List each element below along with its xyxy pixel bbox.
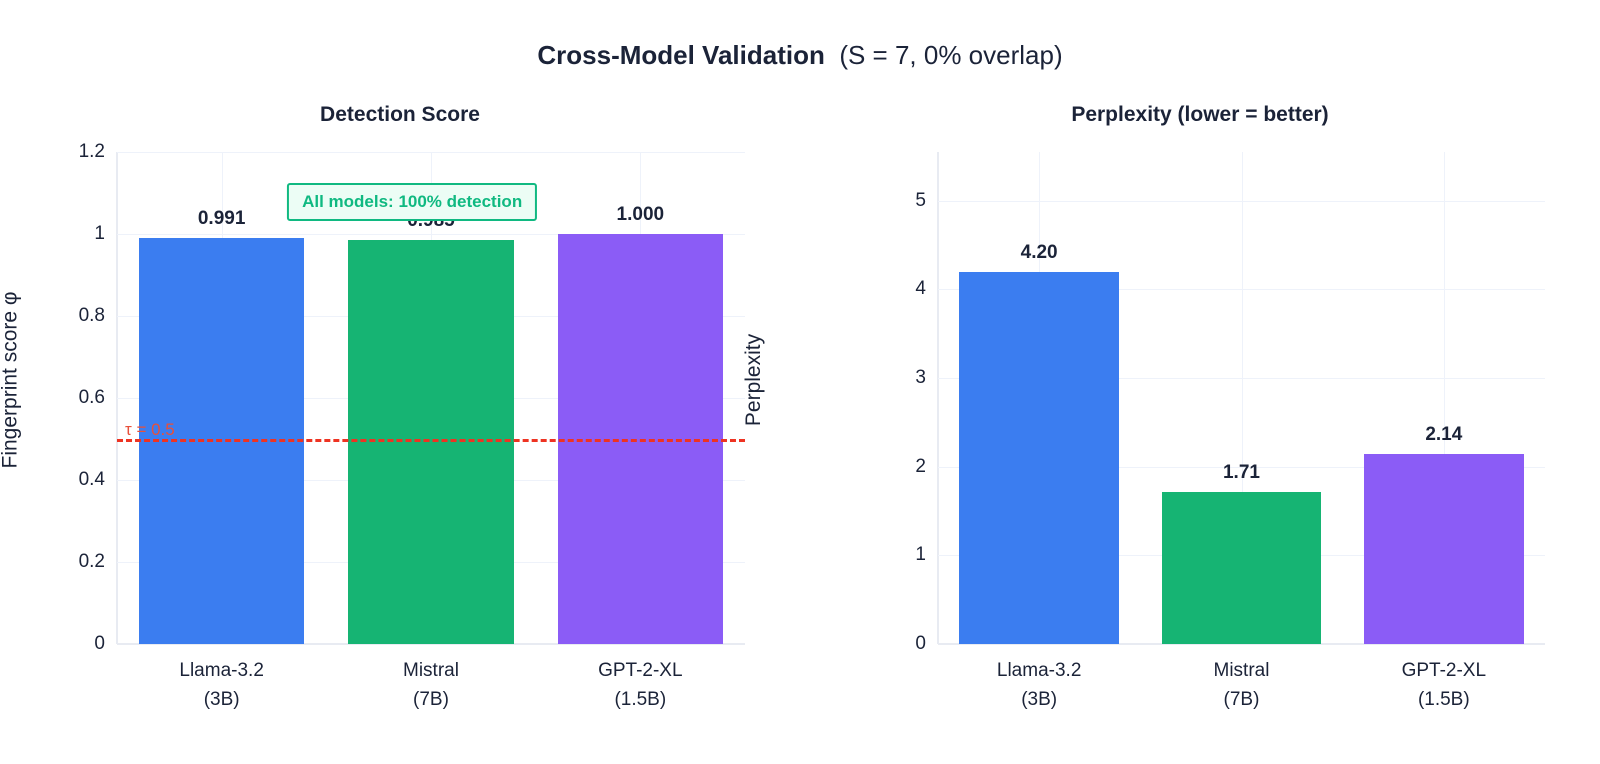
y-tick-label: 0.4 (79, 469, 105, 491)
x-tick-label: Mistral(7B) (311, 656, 551, 714)
bar-value-label: 1.000 (540, 204, 740, 226)
y-tick-label: 0 (94, 633, 105, 655)
y-tick-label: 3 (915, 367, 926, 389)
y-tick-label: 1.2 (79, 141, 105, 163)
x-tick-line: (1.5B) (1324, 685, 1564, 714)
subplot-title-detection: Detection Score (0, 103, 800, 127)
bar-value-label: 2.14 (1344, 424, 1544, 446)
x-tick-line: (7B) (311, 685, 551, 714)
y-tick-label: 0.6 (79, 387, 105, 409)
plot-area-detection: 00.20.40.60.811.2 0.991Llama-3.2(3B)0.98… (117, 152, 745, 644)
bar[interactable]: 1.71Mistral(7B) (1162, 492, 1322, 644)
x-tick-line: GPT-2-XL (520, 656, 760, 685)
x-tick-line: Mistral (311, 656, 551, 685)
subplot-title-perplexity: Perplexity (lower = better) (800, 103, 1600, 127)
x-tick-label: Llama-3.2(3B) (102, 656, 342, 714)
y-tick-label: 0.2 (79, 551, 105, 573)
threshold-label: τ = 0.5 (125, 420, 175, 440)
y-tick-label: 1 (915, 544, 926, 566)
x-tick-line: (1.5B) (520, 685, 760, 714)
detection-annotation-box: All models: 100% detection (287, 183, 537, 221)
y-tick-label: 1 (94, 223, 105, 245)
x-tick-line: (3B) (102, 685, 342, 714)
bar-value-label: 4.20 (939, 242, 1139, 264)
x-tick-line: GPT-2-XL (1324, 656, 1564, 685)
threshold-line (117, 439, 745, 442)
y-axis-line-right (937, 152, 939, 644)
bar[interactable]: 2.14GPT-2-XL(1.5B) (1364, 454, 1524, 644)
y-tick-label: 0 (915, 633, 926, 655)
x-tick-line: Llama-3.2 (102, 656, 342, 685)
bar[interactable]: 4.20Llama-3.2(3B) (959, 272, 1119, 644)
y-tick-label: 5 (915, 190, 926, 212)
subplot-detection-score: Detection Score Fingerprint score φ 00.2… (0, 0, 800, 764)
bar-value-label: 1.71 (1141, 462, 1341, 484)
subplot-perplexity: Perplexity (lower = better) Perplexity 0… (800, 0, 1600, 764)
figure-canvas: Cross-Model Validation (S = 7, 0% overla… (0, 0, 1600, 764)
y-axis-label-right: Perplexity (742, 334, 766, 426)
y-tick-label: 4 (915, 278, 926, 300)
y-tick-label: 0.8 (79, 305, 105, 327)
y-tick-label: 2 (915, 456, 926, 478)
y-axis-label-left: Fingerprint score φ (0, 291, 23, 468)
bar[interactable]: 0.985Mistral(7B) (348, 240, 513, 644)
plot-area-perplexity: 012345 4.20Llama-3.2(3B)1.71Mistral(7B)2… (938, 152, 1545, 644)
x-tick-label: GPT-2-XL(1.5B) (520, 656, 760, 714)
x-tick-label: GPT-2-XL(1.5B) (1324, 656, 1564, 714)
